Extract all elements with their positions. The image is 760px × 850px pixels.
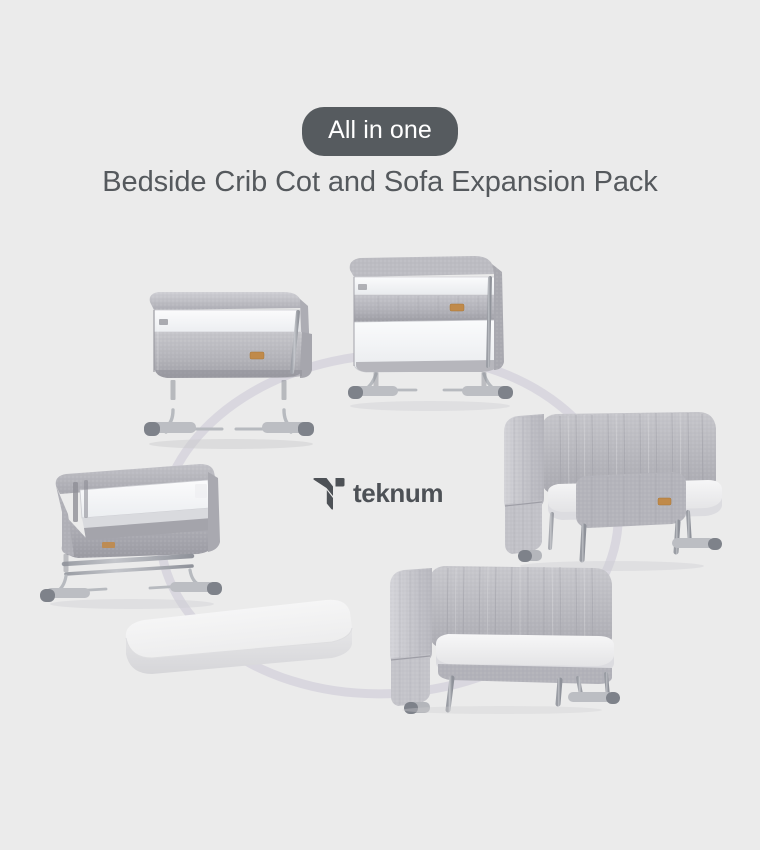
teknum-t-mark-icon	[312, 474, 346, 514]
bedside-crib-angled-view	[32, 452, 232, 612]
sofa-expansion-bottom	[372, 552, 624, 714]
product-banner: teknum All in one Bedside Crib Cot and S…	[0, 0, 760, 850]
svg-text:teknum: teknum	[353, 479, 443, 508]
teknum-wordmark: teknum	[353, 479, 461, 509]
all-in-one-badge-row: All in one	[0, 107, 760, 156]
status-badge: All in one	[302, 107, 458, 156]
sofa-expansion-right	[492, 402, 724, 574]
brand-logo: teknum	[312, 470, 462, 518]
page-title: Bedside Crib Cot and Sofa Expansion Pack	[0, 166, 760, 199]
bedside-cot-tall-view	[332, 244, 532, 416]
bedside-crib-side-view	[132, 272, 330, 450]
